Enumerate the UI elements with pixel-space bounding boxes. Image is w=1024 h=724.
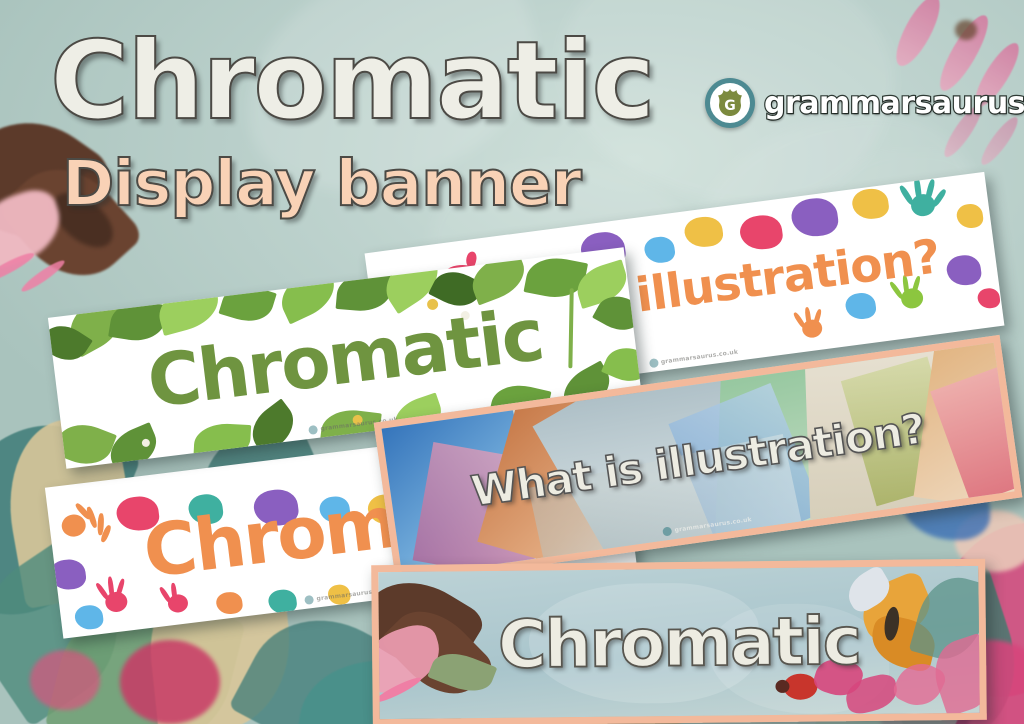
- paint-splat: [683, 215, 725, 250]
- paint-splat: [789, 196, 840, 240]
- page-subtitle: Display banner: [62, 152, 654, 215]
- poster-canvas: Chromatic Display banner G grammarsaurus…: [0, 0, 1024, 724]
- page-title: Chromatic: [50, 30, 654, 134]
- brand-logo[interactable]: G grammarsaurus.co.uk: [705, 78, 1024, 128]
- watermark-badge-icon: [648, 358, 658, 368]
- background-blob: [955, 20, 977, 40]
- paint-splat: [844, 291, 877, 321]
- poster-title-block: Chromatic Display banner: [50, 30, 654, 215]
- watermark-badge-icon: [304, 595, 314, 605]
- banner-label: Chromatic: [379, 601, 980, 684]
- dinosaur-head-icon: G: [713, 86, 747, 120]
- banner-photo-chromatic[interactable]: Chromatic: [371, 559, 987, 724]
- watercolour-flower: [120, 640, 220, 724]
- watercolour-flower: [30, 650, 100, 710]
- paint-splat: [643, 235, 676, 265]
- badge-inner-circle: G: [710, 83, 750, 123]
- paint-splat: [738, 213, 784, 252]
- brand-name: grammarsaurus.co.uk: [764, 86, 1024, 121]
- watermark-badge-icon: [308, 425, 318, 435]
- paint-splat: [74, 604, 105, 631]
- grammarsaurus-badge-icon: G: [705, 78, 755, 128]
- paint-splat: [851, 187, 891, 221]
- svg-text:G: G: [724, 98, 736, 114]
- beetle-head: [775, 680, 789, 693]
- watermark-badge-icon: [662, 526, 672, 536]
- paint-splat: [215, 591, 243, 616]
- paint-splat: [977, 287, 1001, 310]
